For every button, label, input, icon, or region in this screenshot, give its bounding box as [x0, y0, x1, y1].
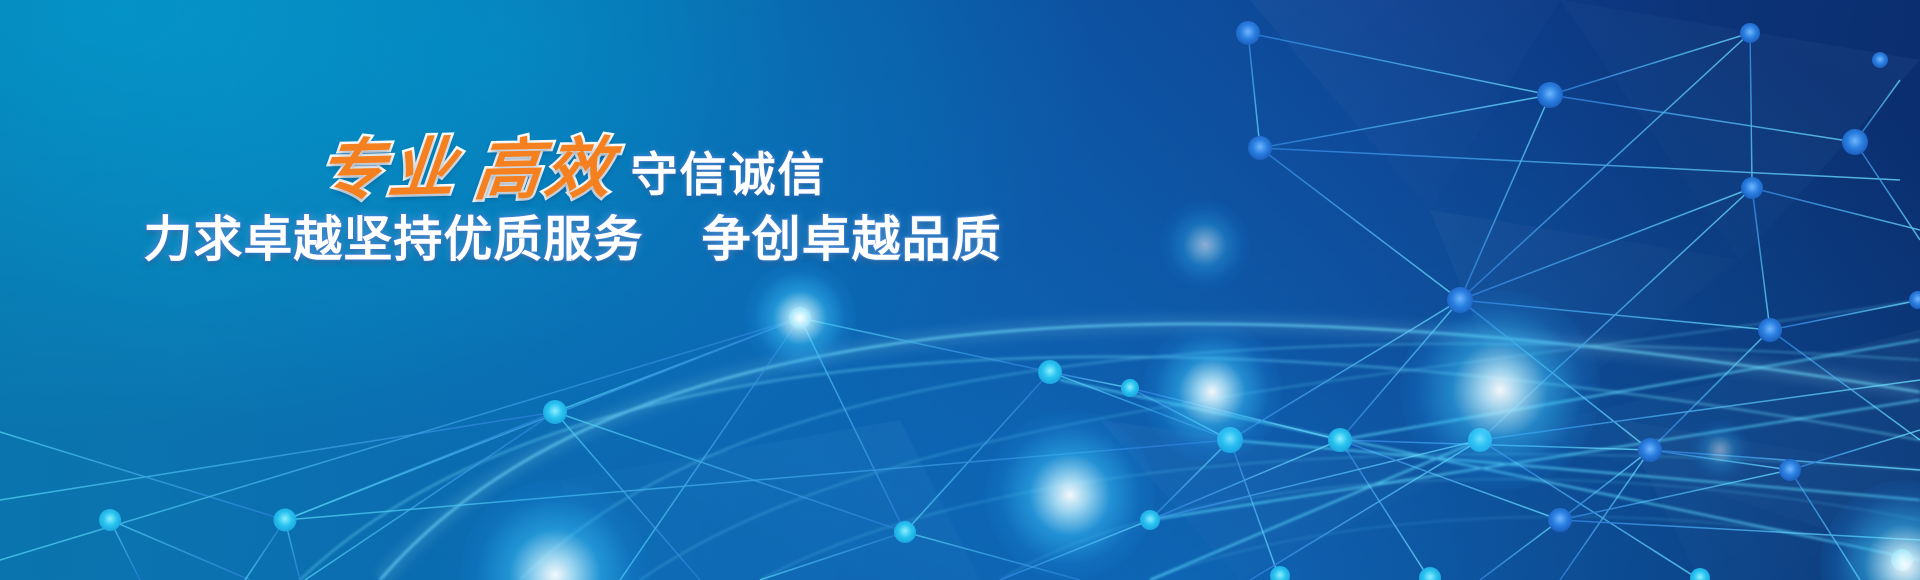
slogan-line2-part1: 力求卓越坚持优质服务 — [143, 211, 643, 268]
slogan-line-1: 专业 高效 守信诚信 — [0, 136, 1145, 202]
slogan-block: 专业 高效 守信诚信 力求卓越坚持优质服务 争创卓越品质 — [0, 136, 1145, 265]
slogan-accent-word-1: 专业 — [315, 134, 462, 203]
slogan-line2-part2: 争创卓越品质 — [702, 211, 1002, 268]
network-mesh-graphic — [0, 0, 1920, 580]
slogan-outline-word: 守信诚信 — [631, 152, 827, 199]
slogan-accent-word-2: 高效 — [471, 135, 618, 204]
slogan-line-2: 力求卓越坚持优质服务 争创卓越品质 — [0, 214, 1145, 265]
hero-banner: 专业 高效 守信诚信 力求卓越坚持优质服务 争创卓越品质 — [0, 0, 1920, 580]
